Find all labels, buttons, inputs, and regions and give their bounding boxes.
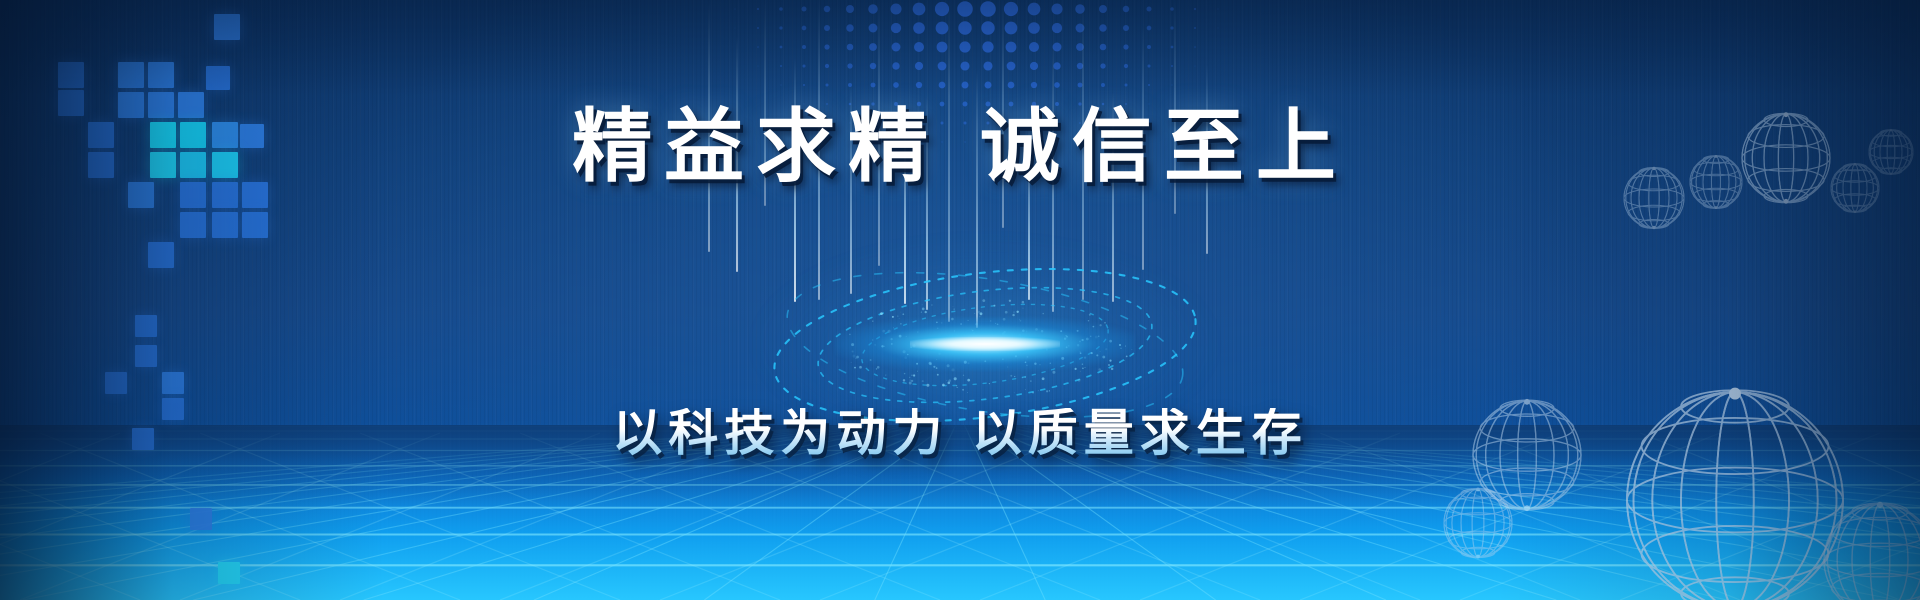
pixel-square (135, 315, 157, 337)
pixel-square (214, 14, 240, 40)
subtitle: 以科技为动力 以质量求生存 (612, 408, 1307, 458)
pixel-square (218, 562, 240, 584)
banner-stage: 精益求精 诚信至上 以科技为动力 以质量求生存 (0, 0, 1920, 600)
wireframe-globe-group (0, 0, 1920, 600)
pixel-square (190, 508, 212, 530)
subtitle-container: 以科技为动力 以质量求生存 (0, 408, 1920, 458)
pixel-square (58, 62, 84, 88)
vertical-line-texture (0, 0, 1920, 600)
pixel-square (105, 372, 127, 394)
pixel-square (148, 242, 174, 268)
pixel-square (162, 372, 184, 394)
core-glow (835, 317, 1135, 371)
wireframe-globe (1824, 502, 1920, 600)
pixel-square (180, 212, 206, 238)
orbital-ring (857, 292, 1112, 398)
main-title-container: 精益求精 诚信至上 (0, 106, 1920, 186)
orbital-ring (812, 271, 1159, 419)
main-title: 精益求精 诚信至上 (572, 106, 1348, 186)
pixel-square (135, 345, 157, 367)
pixel-square (118, 62, 144, 88)
vertical-line-texture-fine (0, 0, 1920, 600)
core-glow-inner (910, 337, 1060, 351)
pixel-square (148, 62, 174, 88)
pixel-square (242, 212, 268, 238)
pixel-square (212, 212, 238, 238)
light-streak-group (690, 0, 1250, 400)
pixel-square (206, 66, 230, 90)
edge-vignette (0, 0, 1920, 600)
pixel-mosaic-group (0, 0, 1920, 600)
wireframe-globe (1444, 488, 1512, 559)
